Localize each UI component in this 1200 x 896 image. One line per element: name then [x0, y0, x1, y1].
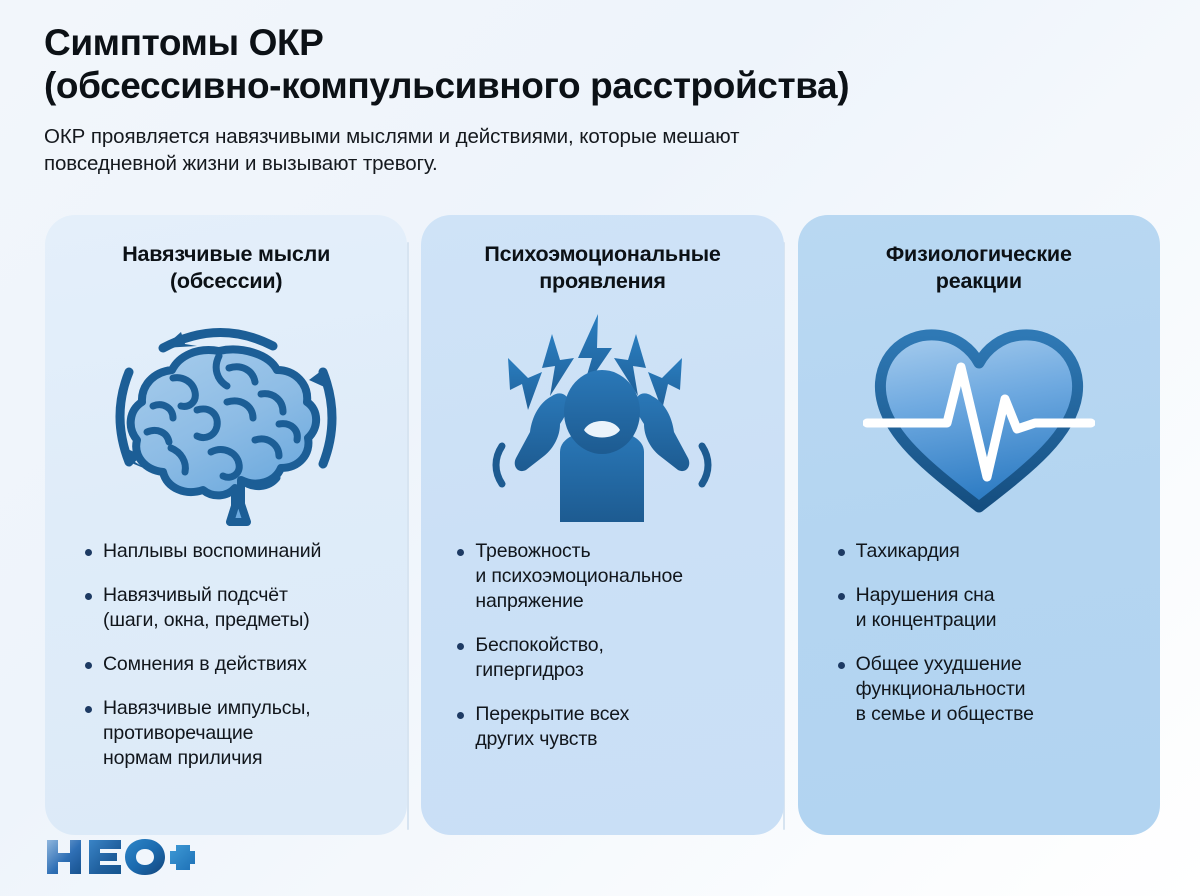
list-item: Навязчивый подсчёт (шаги, окна, предметы… — [83, 583, 385, 633]
list-item: Навязчивые импульсы, противоречащие норм… — [83, 696, 385, 771]
list-item: Сомнения в действиях — [83, 652, 385, 677]
card-physiological-list: Тахикардия Нарушения сна и концентрации … — [820, 539, 1138, 727]
neo-plus-logo — [45, 836, 195, 878]
list-item: Общее ухудшение функциональности в семье… — [836, 652, 1138, 727]
list-item: Нарушения сна и концентрации — [836, 583, 1138, 633]
card-psychoemotional-title: Психоэмоциональные проявления — [443, 241, 761, 297]
card-physiological: Физиологические реакции — [798, 215, 1160, 835]
list-item: Перекрытие всех других чувств — [455, 702, 761, 752]
cards-row: Навязчивые мысли (обсессии) — [45, 215, 1160, 835]
infographic-page: Симптомы ОКР (обсессивно-компульсивного … — [0, 0, 1200, 896]
list-item: Наплывы воспоминаний — [83, 539, 385, 564]
card-physiological-title: Физиологические реакции — [820, 241, 1138, 297]
list-item: Тахикардия — [836, 539, 1138, 564]
card-psychoemotional-list: Тревожность и психоэмоциональное напряже… — [443, 539, 761, 752]
stressed-person-icon — [443, 301, 761, 533]
page-subtitle: ОКР проявляется навязчивыми мыслями и де… — [44, 123, 1164, 178]
page-title: Симптомы ОКР (обсессивно-компульсивного … — [44, 22, 1164, 108]
card-obsessions: Навязчивые мысли (обсессии) — [45, 215, 407, 835]
card-obsessions-list: Наплывы воспоминаний Навязчивый подсчёт … — [67, 539, 385, 771]
list-item: Беспокойство, гипергидроз — [455, 633, 761, 683]
header: Симптомы ОКР (обсессивно-компульсивного … — [44, 22, 1164, 178]
card-psychoemotional: Психоэмоциональные проявления — [421, 215, 783, 835]
card-obsessions-title: Навязчивые мысли (обсессии) — [67, 241, 385, 297]
brain-cycle-icon — [67, 301, 385, 533]
heart-pulse-icon — [820, 301, 1138, 533]
list-item: Тревожность и психоэмоциональное напряже… — [455, 539, 761, 614]
